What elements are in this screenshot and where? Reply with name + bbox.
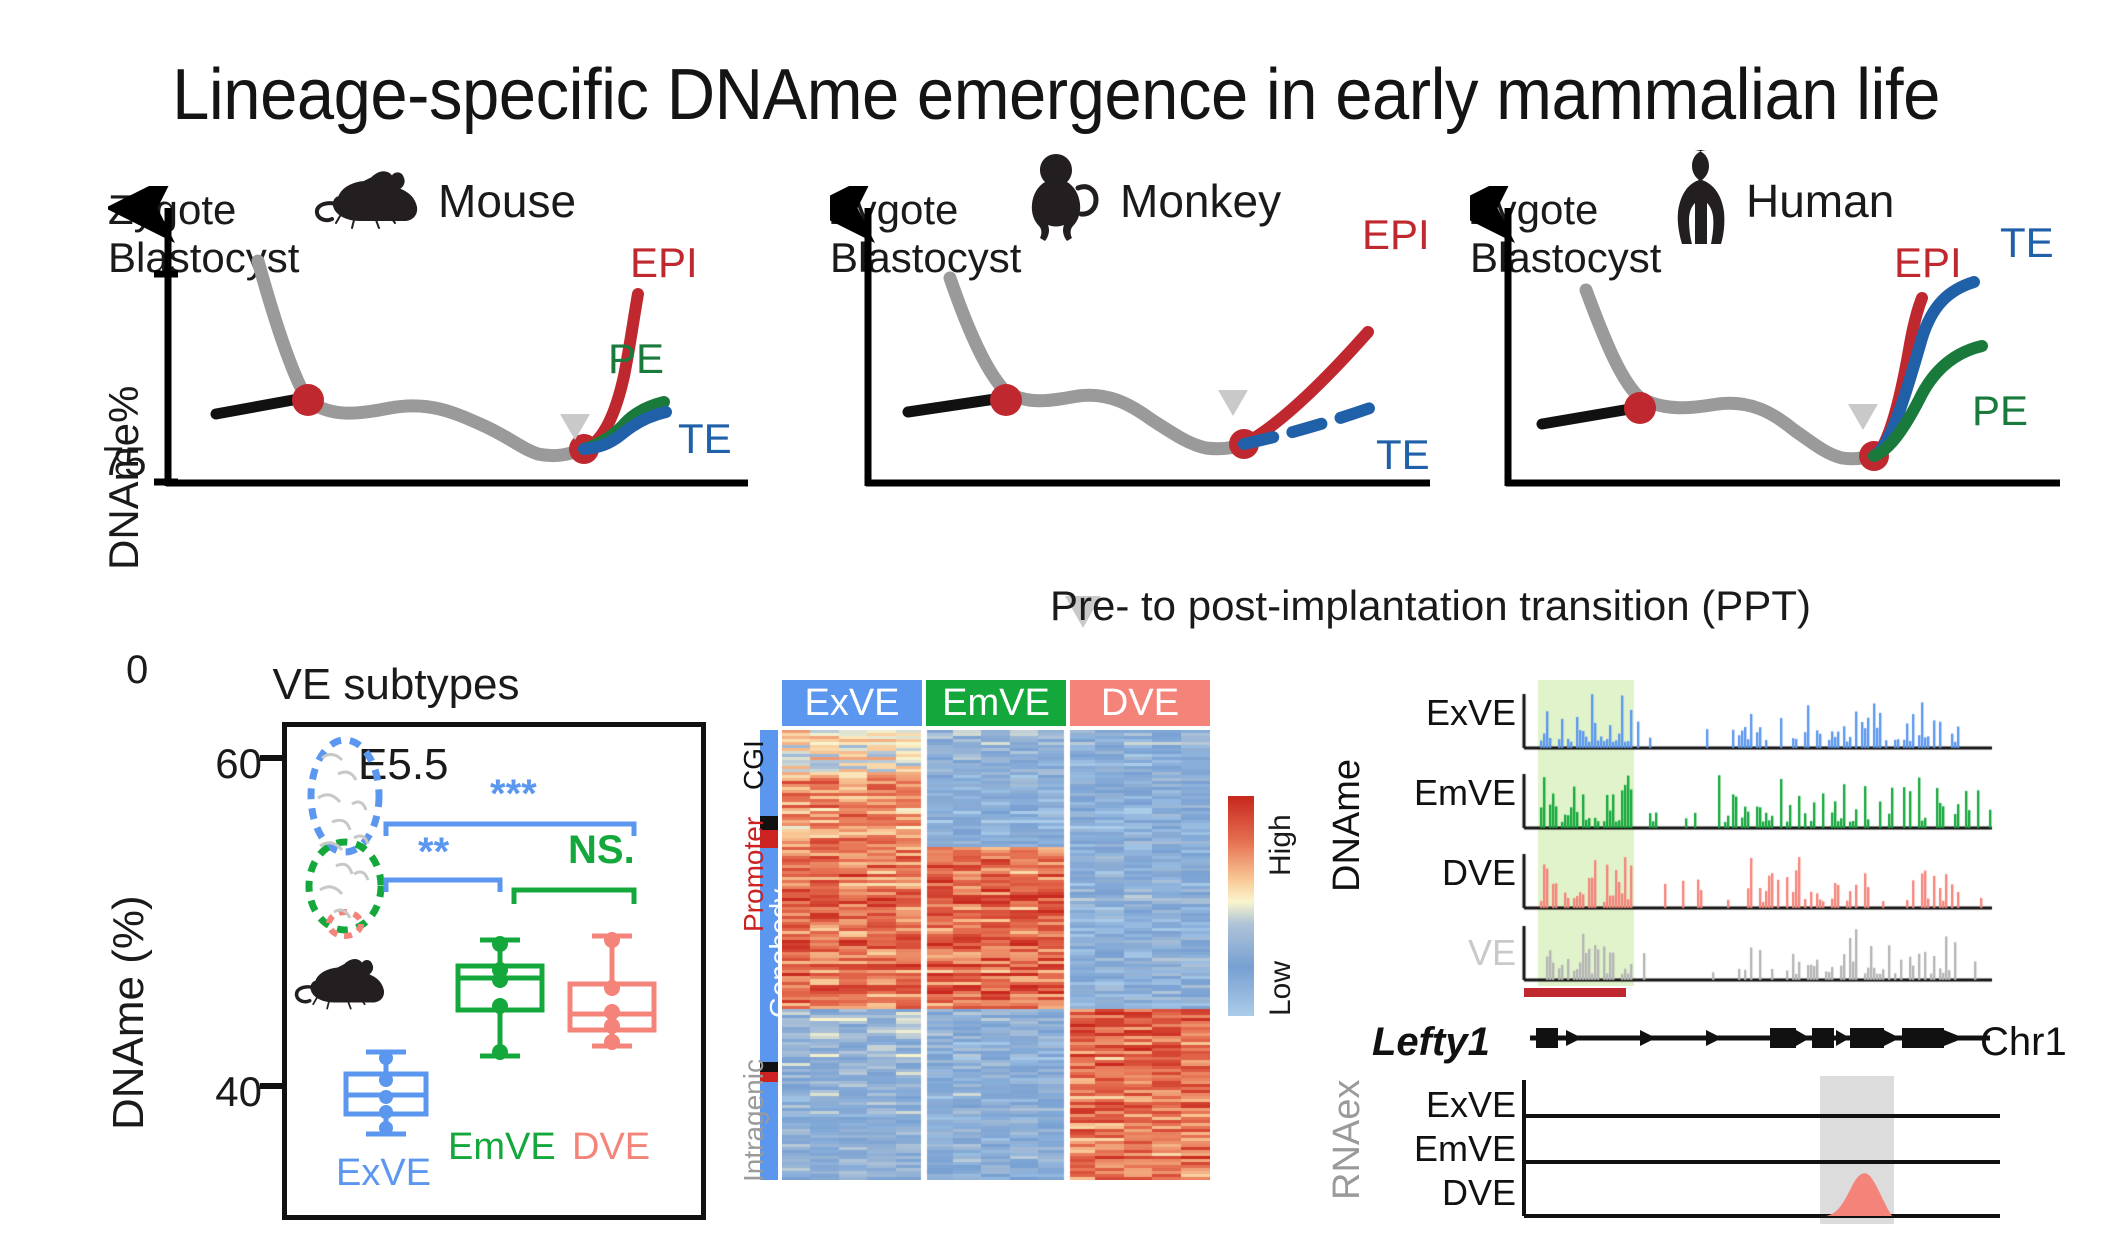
species-label-mouse: Mouse bbox=[438, 178, 576, 224]
track-label-dname-ve: VE bbox=[1368, 932, 1516, 974]
ppt-legend-text: Pre- to post-implantation transition (PP… bbox=[1050, 582, 1811, 630]
track-group-label-rnaex: RNAex bbox=[1326, 1080, 1369, 1200]
track-group-label-dname: DNAme bbox=[1326, 759, 1369, 892]
heatmap-panel: ExVE EmVE DVE CGI Promoter Genebody Intr… bbox=[716, 680, 1276, 1220]
y-axis-label: DNAme% bbox=[100, 386, 148, 570]
boxplot-group-label-dve: DVE bbox=[572, 1126, 650, 1169]
track-label-rnaex-dve: DVE bbox=[1368, 1172, 1516, 1214]
gene-model-lefty1 bbox=[1520, 986, 2040, 1070]
mouse-trajectory-svg bbox=[108, 186, 808, 574]
monkey-icon bbox=[1010, 148, 1102, 244]
heatmap-annotation-label-intragenic: Intragenic bbox=[738, 1059, 770, 1182]
lineage-label-pe-human: PE bbox=[1972, 390, 2028, 432]
trajectory-panel-monkey: Monkey Zygote Blastocyst EPI TE bbox=[830, 186, 1470, 574]
heatmap-colorbar bbox=[1228, 796, 1254, 1016]
species-label-human: Human bbox=[1746, 178, 1894, 224]
heatmap-col-header-dve: DVE bbox=[1070, 680, 1210, 726]
boxplot-title: VE subtypes bbox=[86, 660, 706, 710]
human-trajectory-svg bbox=[1470, 186, 2090, 574]
boxplot-y-axis-label: DNAme (%) bbox=[104, 895, 154, 1130]
gene-name-label: Lefty1 bbox=[1372, 1020, 1490, 1065]
mouse-icon bbox=[314, 168, 424, 234]
track-label-dname-exve: ExVE bbox=[1368, 692, 1516, 734]
heatmap-col-header-emve: EmVE bbox=[926, 680, 1066, 726]
dname-track-signals bbox=[1520, 680, 2040, 986]
lineage-label-epi: EPI bbox=[630, 242, 698, 284]
boxplot-group-label-emve: EmVE bbox=[448, 1126, 556, 1169]
rnaex-track-signals bbox=[1520, 1076, 2040, 1226]
boxplot-panel: VE subtypes 60 40 DNAme (%) E5.5 bbox=[86, 660, 706, 1220]
colorbar-label-high: High bbox=[1264, 814, 1298, 876]
track-label-rnaex-exve: ExVE bbox=[1368, 1084, 1516, 1126]
species-label-monkey: Monkey bbox=[1120, 178, 1281, 224]
lineage-label-epi-monkey: EPI bbox=[1362, 214, 1430, 256]
lineage-label-te: TE bbox=[678, 418, 732, 460]
track-label-rnaex-emve: EmVE bbox=[1368, 1128, 1516, 1170]
human-icon bbox=[1660, 146, 1734, 246]
lineage-label-epi-human: EPI bbox=[1894, 242, 1962, 284]
lineage-label-pe: PE bbox=[608, 338, 664, 380]
heatmap-body bbox=[782, 730, 1210, 1180]
page-title: Lineage-specific DNAme emergence in earl… bbox=[74, 52, 2038, 138]
trajectory-panel-mouse: 75 0 DNAme% Mouse Zygote Blastocyst EPI … bbox=[108, 186, 808, 574]
lineage-label-te-monkey: TE bbox=[1376, 434, 1430, 476]
track-label-dname-dve: DVE bbox=[1368, 852, 1516, 894]
boxplot-ytick-60: 60 bbox=[132, 740, 262, 788]
heatmap-annotation-label-cgi: CGI bbox=[738, 740, 770, 790]
track-label-dname-emve: EmVE bbox=[1368, 772, 1516, 814]
heatmap-col-header-exve: ExVE bbox=[782, 680, 922, 726]
boxplot-group-label-exve: ExVE bbox=[336, 1152, 431, 1195]
trajectory-panel-human: Human Zygote Blastocyst EPI TE PE bbox=[1470, 186, 2090, 574]
chromosome-label: Chr1 bbox=[1980, 1020, 2067, 1065]
colorbar-label-low: Low bbox=[1264, 961, 1298, 1016]
genome-browser-panel: DNAme RNAex ExVE EmVE DVE VE bbox=[1320, 680, 2060, 1220]
lineage-label-te-human: TE bbox=[2000, 222, 2054, 264]
